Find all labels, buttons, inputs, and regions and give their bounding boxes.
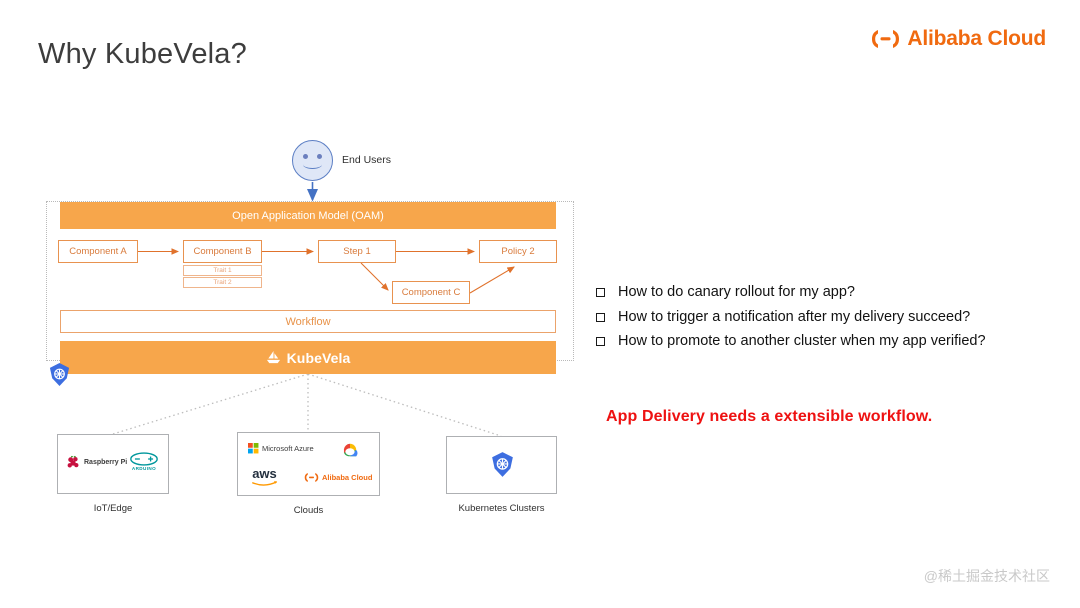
questions-list: How to do canary rollout for my app? How… <box>596 283 986 357</box>
oam-bar: Open Application Model (OAM) <box>60 202 556 229</box>
kubevela-bar: KubeVela <box>60 341 556 374</box>
microsoft-azure-label: Microsoft Azure <box>262 444 314 453</box>
aws-label: aws <box>252 467 277 480</box>
list-item: How to do canary rollout for my app? <box>596 283 986 303</box>
node-trait-2[interactable]: Trait 2 <box>183 277 262 288</box>
eye-right-icon <box>317 154 322 159</box>
alibaba-cloud-logo-icon: Alibaba Cloud <box>304 472 372 483</box>
slide: Why KubeVela? Alibaba Cloud <box>0 0 1080 608</box>
workflow-bar: Workflow <box>60 310 556 333</box>
brand-name: Alibaba Cloud <box>907 27 1046 51</box>
kubevela-label: KubeVela <box>287 350 351 366</box>
node-trait-1[interactable]: Trait 1 <box>183 265 262 276</box>
sailboat-icon <box>266 350 281 365</box>
node-policy-2[interactable]: Policy 2 <box>479 240 557 263</box>
eye-left-icon <box>303 154 308 159</box>
checkbox-square-icon <box>596 288 605 297</box>
question-text: How to promote to another cluster when m… <box>618 332 986 352</box>
platform-box-clouds: Microsoft Azure aws <box>237 432 380 496</box>
platform-label-kubernetes-clusters: Kubernetes Clusters <box>426 503 577 514</box>
smile-icon <box>303 160 322 169</box>
google-cloud-logo-icon <box>340 442 360 458</box>
microsoft-azure-logo-icon: Microsoft Azure <box>248 443 314 454</box>
aws-logo-icon: aws <box>251 467 278 487</box>
arduino-logo-icon: ARDUINO <box>130 452 158 471</box>
node-step-1[interactable]: Step 1 <box>318 240 396 263</box>
platform-label-iot-edge: IoT/Edge <box>57 503 169 514</box>
kubernetes-helm-icon <box>47 362 72 387</box>
alibaba-cloud-logo-icon <box>871 28 900 50</box>
end-users-label: End Users <box>342 154 391 166</box>
kubernetes-logo-icon <box>489 451 516 478</box>
architecture-diagram: End Users Open Application Model (OAM) C… <box>0 0 600 608</box>
raspberry-pi-label: Raspberry Pi <box>84 459 127 466</box>
conclusion-text: App Delivery needs a extensible workflow… <box>606 408 932 426</box>
node-component-c[interactable]: Component C <box>392 281 470 304</box>
checkbox-square-icon <box>596 313 605 322</box>
checkbox-square-icon <box>596 337 605 346</box>
question-text: How to trigger a notification after my d… <box>618 308 970 328</box>
smiley-face-icon <box>292 140 333 181</box>
platform-box-kubernetes-clusters <box>446 436 557 494</box>
platform-label-clouds: Clouds <box>237 505 380 516</box>
node-component-a[interactable]: Component A <box>58 240 138 263</box>
list-item: How to promote to another cluster when m… <box>596 332 986 352</box>
question-text: How to do canary rollout for my app? <box>618 283 855 303</box>
platform-box-iot-edge: Raspberry Pi ARDUINO <box>57 434 169 494</box>
node-component-b[interactable]: Component B <box>183 240 262 263</box>
alibaba-cloud-brand: Alibaba Cloud <box>871 27 1046 51</box>
watermark: @稀土掘金技术社区 <box>924 566 1050 586</box>
list-item: How to trigger a notification after my d… <box>596 308 986 328</box>
raspberry-pi-logo-icon: Raspberry Pi <box>66 455 127 470</box>
alibaba-cloud-label: Alibaba Cloud <box>322 473 372 482</box>
arduino-label: ARDUINO <box>132 466 156 471</box>
